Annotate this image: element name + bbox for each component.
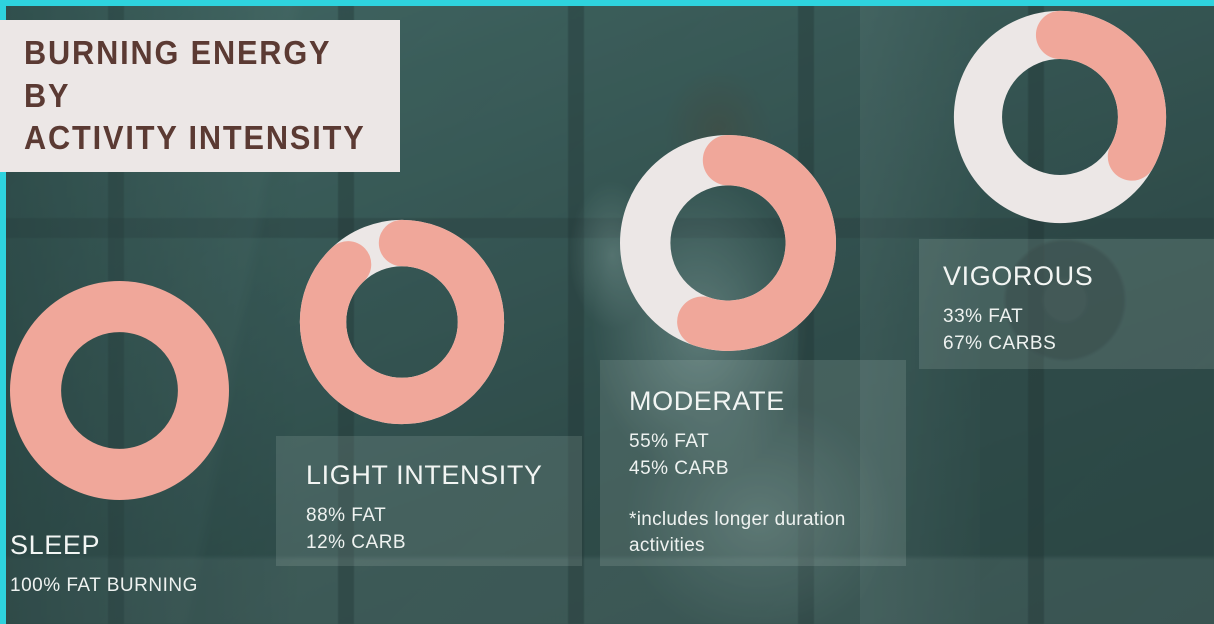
panel-sleep-title: SLEEP — [10, 530, 300, 561]
panel-light-line-1: 88% FAT — [306, 503, 586, 530]
panel-vigorous-title: VIGOROUS — [943, 261, 1213, 292]
panel-moderate-line-1: 55% FAT — [629, 429, 919, 456]
donut-vigorous-svg — [953, 10, 1167, 224]
panel-vigorous-line-1: 33% FAT — [943, 304, 1213, 331]
panel-moderate: MODERATE 55% FAT 45% CARB *includes long… — [629, 386, 919, 559]
panel-light: LIGHT INTENSITY 88% FAT 12% CARB — [306, 460, 586, 557]
panel-sleep-line-1: 100% FAT BURNING — [10, 573, 300, 600]
title-card: BURNING ENERGY BY ACTIVITY INTENSITY — [0, 20, 400, 172]
panel-light-line-2: 12% CARB — [306, 530, 586, 557]
donut-sleep-arc-fat — [36, 307, 204, 475]
donut-chart-vigorous — [953, 10, 1167, 224]
donut-moderate-svg — [620, 135, 836, 351]
donut-chart-moderate — [620, 135, 836, 351]
panel-moderate-title: MODERATE — [629, 386, 919, 417]
infographic-poster: BURNING ENERGY BY ACTIVITY INTENSITY — [0, 0, 1214, 624]
donut-chart-light — [299, 219, 505, 425]
donut-light-arc-fat — [323, 243, 481, 401]
donut-light-svg — [299, 219, 505, 425]
panel-moderate-note: *includes longer duration activities — [629, 507, 889, 559]
donut-chart-sleep — [10, 281, 229, 500]
panel-light-title: LIGHT INTENSITY — [306, 460, 586, 491]
panel-moderate-line-2: 45% CARB — [629, 456, 919, 483]
page-title: BURNING ENERGY BY ACTIVITY INTENSITY — [24, 32, 374, 161]
panel-sleep: SLEEP 100% FAT BURNING — [10, 530, 300, 600]
accent-border-top — [0, 0, 1214, 6]
donut-sleep-svg — [10, 281, 229, 500]
panel-vigorous-line-2: 67% CARBS — [943, 331, 1213, 358]
panel-vigorous: VIGOROUS 33% FAT 67% CARBS — [943, 261, 1213, 358]
